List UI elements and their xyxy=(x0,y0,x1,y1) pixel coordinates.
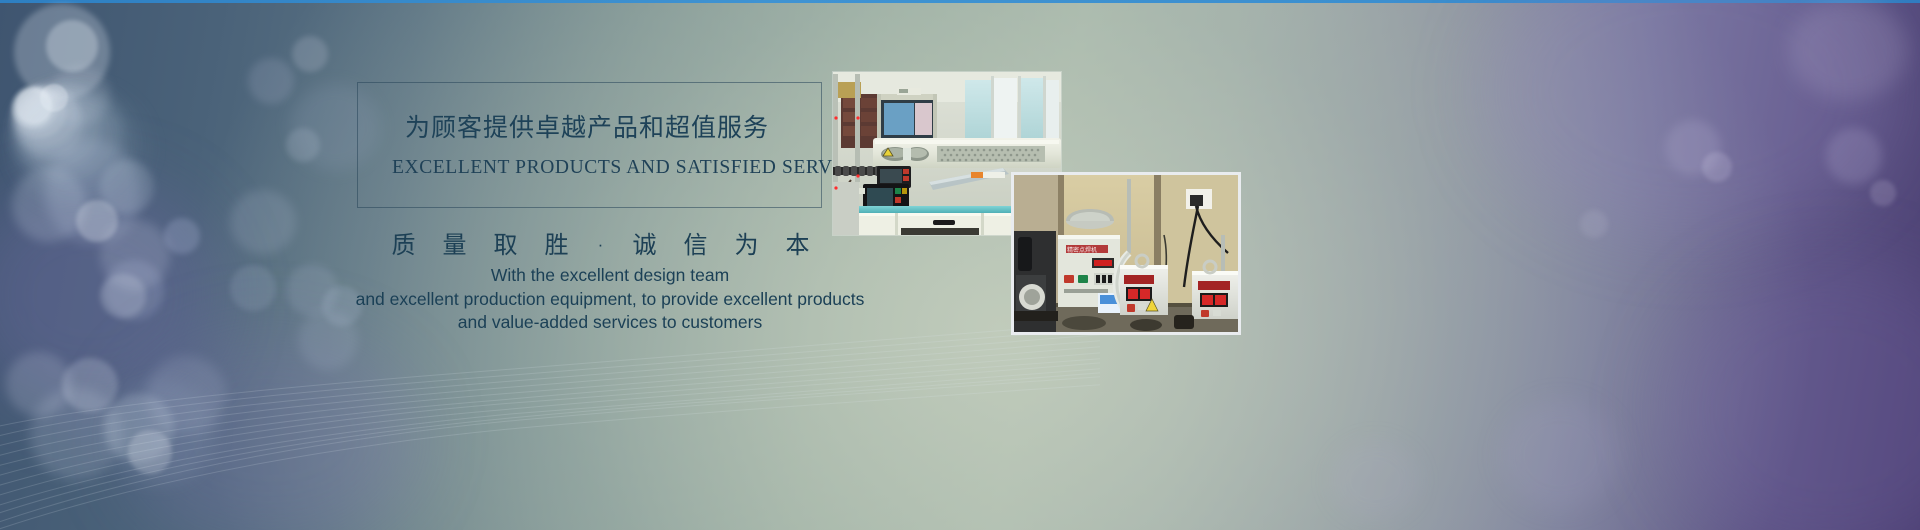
bokeh-circle xyxy=(14,4,110,100)
bokeh-circle xyxy=(1580,210,1608,238)
bokeh-circle xyxy=(1500,400,1620,510)
bokeh-circle xyxy=(100,160,154,214)
bokeh-circle xyxy=(12,84,122,180)
wave-lines xyxy=(0,320,1100,530)
slogan-char: 本 xyxy=(772,225,823,260)
slogan-char: 信 xyxy=(670,225,721,260)
bokeh-circle xyxy=(76,200,118,242)
bokeh-circle xyxy=(50,66,110,124)
description-paragraph: With the excellent design team and excel… xyxy=(180,264,1040,335)
bokeh-circle xyxy=(12,86,58,130)
bokeh-circle xyxy=(14,88,84,158)
slogan-char: 胜 xyxy=(531,225,582,260)
headline-english: EXCELLENT PRODUCTS AND SATISFIED SERVICE xyxy=(392,157,866,179)
bokeh-circle xyxy=(12,168,86,242)
haze-blob xyxy=(1660,260,1920,530)
bokeh-circle xyxy=(46,20,98,72)
bokeh-circle xyxy=(16,88,52,124)
slogan-separator-dot: · xyxy=(582,235,619,255)
bokeh-circle xyxy=(100,274,146,318)
bokeh-circle xyxy=(1665,120,1721,176)
photo-test-equipment: 精密点焊机 xyxy=(1011,172,1241,335)
slogan-char: 量 xyxy=(429,225,480,260)
slogan-char: 质 xyxy=(378,225,429,260)
headline-frame xyxy=(357,82,822,208)
bokeh-circle xyxy=(15,88,147,208)
bokeh-circle xyxy=(286,128,320,162)
description-line: and excellent production equipment, to p… xyxy=(180,288,1040,312)
bokeh-circle xyxy=(1870,180,1896,206)
banner-root: 为顾客提供卓越产品和超值服务 EXCELLENT PRODUCTS AND SA… xyxy=(0,0,1920,530)
top-accent-rule xyxy=(0,0,1920,3)
bokeh-circle xyxy=(40,84,68,112)
bokeh-circle xyxy=(18,86,98,166)
slogan-row: 质量取胜·诚信为本 xyxy=(378,225,823,260)
bokeh-circle xyxy=(104,260,164,320)
bokeh-circle xyxy=(12,84,78,148)
slogan-char: 为 xyxy=(721,225,772,260)
slogan-char: 诚 xyxy=(619,225,670,260)
description-line: With the excellent design team xyxy=(180,264,1040,288)
bokeh-circle xyxy=(100,220,170,290)
bokeh-circle xyxy=(10,86,130,196)
svg-text:精密点焊机: 精密点焊机 xyxy=(1067,246,1097,254)
bokeh-circle xyxy=(14,84,106,172)
bokeh-circle xyxy=(1702,152,1732,182)
headline-chinese: 为顾客提供卓越产品和超值服务 xyxy=(405,108,769,144)
bokeh-circle xyxy=(13,87,53,127)
bokeh-circle xyxy=(292,36,328,72)
bokeh-circle xyxy=(1826,128,1882,184)
slogan-char: 取 xyxy=(480,225,531,260)
bokeh-circle xyxy=(1330,440,1420,520)
bokeh-circle xyxy=(248,58,294,104)
description-line: and value-added services to customers xyxy=(180,311,1040,335)
bokeh-circle xyxy=(230,190,296,254)
bokeh-circle xyxy=(12,86,66,138)
bokeh-circle xyxy=(164,218,200,254)
bokeh-circle xyxy=(45,140,141,244)
haze-blob xyxy=(1480,0,1900,240)
bokeh-circle xyxy=(1788,0,1908,100)
